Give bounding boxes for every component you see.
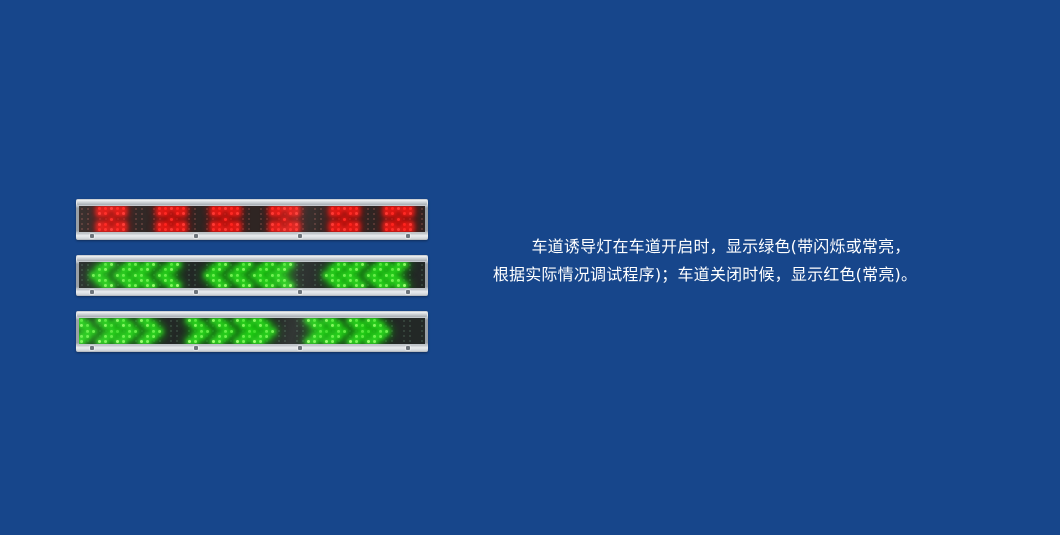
housing-rail-top [77,256,427,261]
housing-rail-bottom [77,289,427,295]
mounting-screw [406,234,410,238]
led-matrix-green-left [79,262,425,288]
lane-signal-sign-green-right[interactable] [76,311,428,352]
mounting-screw [90,346,94,350]
led-symbols-chevron-right [79,318,425,344]
page-canvas: 车道诱导灯在车道开启时，显示绿色(带闪烁或常亮， 根据实际情况调试程序)；车道关… [0,0,1060,535]
mounting-screw [90,290,94,294]
mounting-screw [298,234,302,238]
lane-signal-sign-group [76,199,428,367]
led-symbols-chevron-left [79,262,425,288]
housing-rail-top [77,312,427,317]
mounting-screw [406,346,410,350]
caption-line-1: 车道诱导灯在车道开启时，显示绿色(带闪烁或常亮， [455,233,955,261]
mounting-screw [194,290,198,294]
led-matrix-red [79,206,425,232]
housing-rail-bottom [77,345,427,351]
mounting-screw [90,234,94,238]
mounting-screw [298,346,302,350]
housing-rail-top [77,200,427,205]
led-matrix-green-right [79,318,425,344]
mounting-screw [298,290,302,294]
caption-line-2: 根据实际情况调试程序)；车道关闭时候，显示红色(常亮)。 [455,261,955,289]
led-symbols-cross [79,206,425,232]
mounting-screw [194,234,198,238]
housing-rail-bottom [77,233,427,239]
mounting-screw [406,290,410,294]
lane-signal-sign-red-cross[interactable] [76,199,428,240]
mounting-screw [194,346,198,350]
lane-signal-sign-green-left[interactable] [76,255,428,296]
caption-text: 车道诱导灯在车道开启时，显示绿色(带闪烁或常亮， 根据实际情况调试程序)；车道关… [455,233,955,289]
